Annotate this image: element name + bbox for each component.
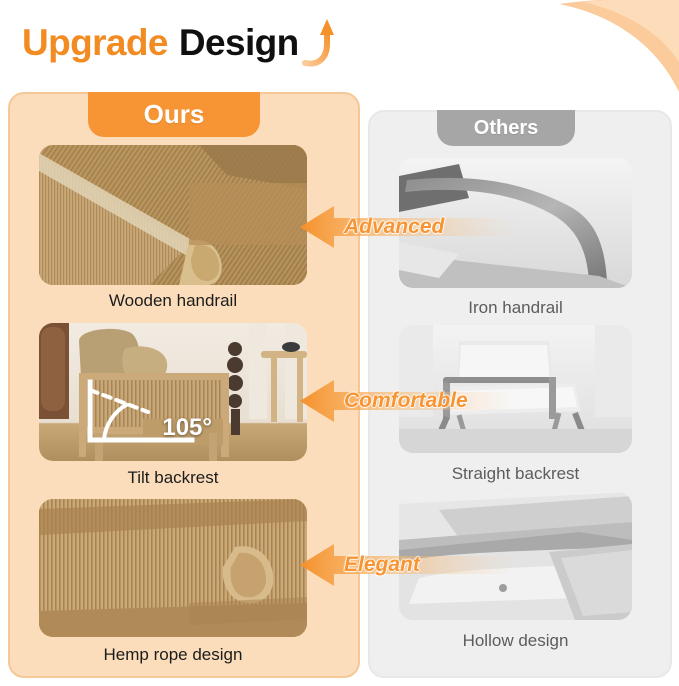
caption-ours-row3: Hemp rope design xyxy=(39,645,307,665)
curved-up-arrow-icon xyxy=(300,16,334,68)
corner-swoosh-decoration xyxy=(539,0,679,92)
feature-arrow-elegant: Elegant xyxy=(300,542,515,588)
badge-others: Others xyxy=(437,110,575,146)
angle-value-label: 105° xyxy=(162,414,212,442)
caption-others-row2: Straight backrest xyxy=(399,464,632,484)
title-word-design: Design xyxy=(179,24,299,61)
feature-label-elegant: Elegant xyxy=(344,542,420,588)
hemp-rope-woven-backrest-closeup-photo xyxy=(39,499,307,637)
feature-label-comfortable: Comfortable xyxy=(344,378,468,424)
angle-measure-icon: 105° xyxy=(84,378,214,450)
caption-others-row3: Hollow design xyxy=(399,631,632,651)
caption-ours-row1: Wooden handrail xyxy=(39,291,307,311)
page-title: Upgrade Design xyxy=(22,16,334,68)
title-word-upgrade: Upgrade xyxy=(22,24,168,61)
infographic-page: Upgrade Design Ours Others xyxy=(0,0,679,686)
feature-arrow-advanced: Advanced xyxy=(300,204,515,250)
photo-card-ours-row1 xyxy=(39,145,307,285)
photo-card-ours-row3 xyxy=(39,499,307,637)
badge-ours: Ours xyxy=(88,92,260,137)
caption-ours-row2: Tilt backrest xyxy=(39,468,307,488)
feature-arrow-comfortable: Comfortable xyxy=(300,378,515,424)
feature-label-advanced: Advanced xyxy=(344,204,444,250)
woven-hemp-rope-chair-with-wooden-handrail-photo xyxy=(39,145,307,285)
caption-others-row1: Iron handrail xyxy=(399,298,632,318)
